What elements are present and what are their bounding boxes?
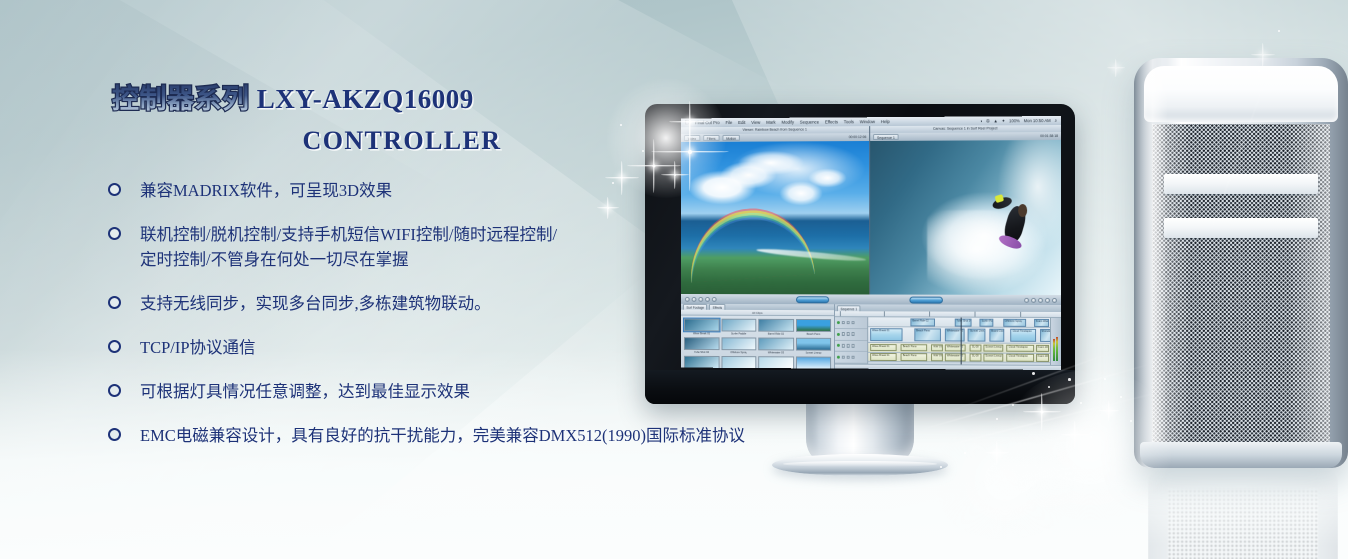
spotlight-icon[interactable]: ⌕ <box>1055 118 1057 123</box>
audio-meter-rail <box>1050 318 1061 365</box>
timeline-clip[interactable]: Sunset Lineup <box>983 344 1002 351</box>
bluetooth-status-icon[interactable]: ✇ <box>986 118 989 123</box>
timeline-clip[interactable]: WW 03 <box>931 344 943 351</box>
timeline-clip[interactable]: SL 08 <box>970 344 982 351</box>
timeline-clip[interactable]: Board Close Up <box>989 329 1004 342</box>
reflection-mesh <box>1168 488 1318 559</box>
mark-out-icon[interactable] <box>1024 297 1029 302</box>
timeline-clip[interactable]: Foam Wash <box>1034 318 1050 326</box>
list-item: TCP/IP协议通信 <box>108 335 868 360</box>
bullet-ring-icon <box>108 384 121 397</box>
copy-block: 控制器系列 控制器系列 LXY-AKZQ16009 CONTROLLER 兼容M… <box>0 0 880 559</box>
audio-meter-right <box>1056 337 1058 361</box>
list-item: EMC电磁兼容设计，具有良好的抗干扰能力，完美兼容DMX512(1990)国际标… <box>108 423 868 448</box>
page-subtitle: CONTROLLER <box>112 126 812 156</box>
timeline-clip[interactable]: Sunset Lineup <box>968 329 985 342</box>
title-line-primary: 控制器系列 控制器系列 LXY-AKZQ16009 <box>112 82 812 116</box>
wifi-status-icon[interactable]: ✦ <box>1002 118 1005 123</box>
page-title: 控制器系列 控制器系列 LXY-AKZQ16009 CONTROLLER <box>112 82 812 156</box>
timeline-clip[interactable]: Sunset Lineup <box>983 354 1002 361</box>
mac-pro-tower <box>1134 58 1348 468</box>
bullet-ring-icon <box>108 428 121 441</box>
menubar-clock[interactable]: Mon 10:50 AM <box>1024 118 1051 123</box>
list-item: 联机控制/脱机控制/支持手机短信WIFI控制/随时远程控制/ 定时控制/不管身在… <box>108 222 868 272</box>
match-frame-icon[interactable] <box>1052 297 1057 302</box>
canvas-timecode[interactable]: 00:01:38:18 <box>1040 134 1058 138</box>
timeline-clip[interactable]: Whitewater 03 <box>945 344 966 351</box>
battery-percent[interactable]: 100% <box>1009 118 1020 123</box>
timeline-clip[interactable]: WW 03 <box>931 353 943 360</box>
volume-status-icon[interactable]: ▲ <box>994 118 998 123</box>
feature-text: 联机控制/脱机控制/支持手机短信WIFI控制/随时远程控制/ 定时控制/不管身在… <box>140 225 557 269</box>
canvas-panel: Canvas: Sequence 1 in Surf Reel Project … <box>869 125 1061 295</box>
audio-meter-left <box>1053 339 1055 361</box>
replace-edit-icon[interactable] <box>1045 297 1050 302</box>
surfer-wave-photo <box>870 140 1061 295</box>
feature-text: TCP/IP协议通信 <box>140 338 256 357</box>
timeline-clip[interactable]: Foam Wash <box>1036 354 1050 361</box>
feature-text: 可根据灯具情况任意调整，达到最佳显示效果 <box>140 382 470 401</box>
timeline-clip[interactable]: Beach Pano <box>914 329 941 342</box>
sparkle-star-icon <box>1106 58 1126 78</box>
banner-stage: 控制器系列 控制器系列 LXY-AKZQ16009 CONTROLLER 兼容M… <box>0 0 1348 559</box>
title-cn: 控制器系列 <box>112 84 250 114</box>
menubar-status-area: ◑ ✇ ▲ ✦ 100% Mon 10:50 AM ⌕ <box>980 118 1057 123</box>
timeline-clip[interactable]: Cloud Timelapse <box>1011 329 1036 342</box>
surfer-figure <box>992 187 1034 261</box>
feature-text: 支持无线同步，实现多台同步,多栋建筑物联动。 <box>140 294 491 313</box>
tower-top-panel <box>1144 66 1338 122</box>
track-row[interactable]: Wave Break 01 Beach Pano Whitewater 03 S… <box>868 327 1061 344</box>
feature-text: 兼容MADRIX软件，可呈现3D效果 <box>140 181 392 200</box>
overwrite-edit-icon[interactable] <box>1038 297 1043 302</box>
list-item: 支持无线同步，实现多台同步,多栋建筑物联动。 <box>108 291 868 316</box>
optical-drive-bay-2[interactable] <box>1164 218 1318 238</box>
display-status-icon[interactable]: ◑ <box>980 118 983 123</box>
timeline-clip[interactable]: Tube Shot 04 <box>955 318 972 326</box>
track-lanes[interactable]: Barrel Ride 02 Tube Shot 04 Surfer Paddl… <box>868 317 1061 365</box>
list-item: 可根据灯具情况任意调整，达到最佳显示效果 <box>108 379 868 404</box>
timeline-clip[interactable]: Whitewater 03 <box>945 354 966 361</box>
timeline-clip[interactable]: Barrel Ride 02 <box>910 318 935 326</box>
track-row[interactable]: Wave Break 01 Beach Pano WW 03 Whitewate… <box>868 353 1061 363</box>
tower-base-foot <box>1140 442 1342 468</box>
tower-mesh-grille <box>1152 124 1330 442</box>
timeline-clip[interactable]: Offshore Spray <box>1003 318 1026 326</box>
timeline-playhead[interactable] <box>960 318 961 365</box>
bullet-ring-icon <box>108 296 121 309</box>
timeline-clip[interactable]: Surfer Paddle <box>980 318 994 326</box>
timeline-clip[interactable]: Cloud Timelapse <box>1007 354 1034 362</box>
insert-edit-icon[interactable] <box>1031 297 1036 302</box>
bullet-ring-icon <box>108 340 121 353</box>
feature-list: 兼容MADRIX软件，可呈现3D效果 联机控制/脱机控制/支持手机短信WIFI控… <box>108 178 868 467</box>
tower-edge-highlight <box>1134 58 1168 468</box>
surfer-head <box>1018 204 1027 217</box>
list-item: 兼容MADRIX软件，可呈现3D效果 <box>108 178 868 203</box>
scrubber-right[interactable] <box>909 296 942 303</box>
timeline-clip[interactable]: Foam Wash <box>1036 345 1050 352</box>
timeline-clip[interactable]: Cloud Timelapse <box>1007 345 1034 353</box>
feature-text: EMC电磁兼容设计，具有良好的抗干扰能力，完美兼容DMX512(1990)国际标… <box>140 426 745 445</box>
tower-reflection <box>1148 470 1338 559</box>
bullet-ring-icon <box>108 183 121 196</box>
menu-item-help[interactable]: Help <box>881 119 890 124</box>
timeline-clip[interactable]: Beach Pano <box>901 344 928 351</box>
bullet-ring-icon <box>108 227 121 240</box>
timeline-clip[interactable]: Whitewater 03 <box>945 329 964 342</box>
title-model: LXY-AKZQ16009 <box>257 84 474 114</box>
timeline-clip[interactable]: SL 08 <box>970 354 982 361</box>
timeline-clip[interactable]: Beach Pano <box>901 353 928 360</box>
optical-drive-bay-1[interactable] <box>1164 174 1318 194</box>
canvas-transport-right[interactable] <box>1024 297 1057 302</box>
